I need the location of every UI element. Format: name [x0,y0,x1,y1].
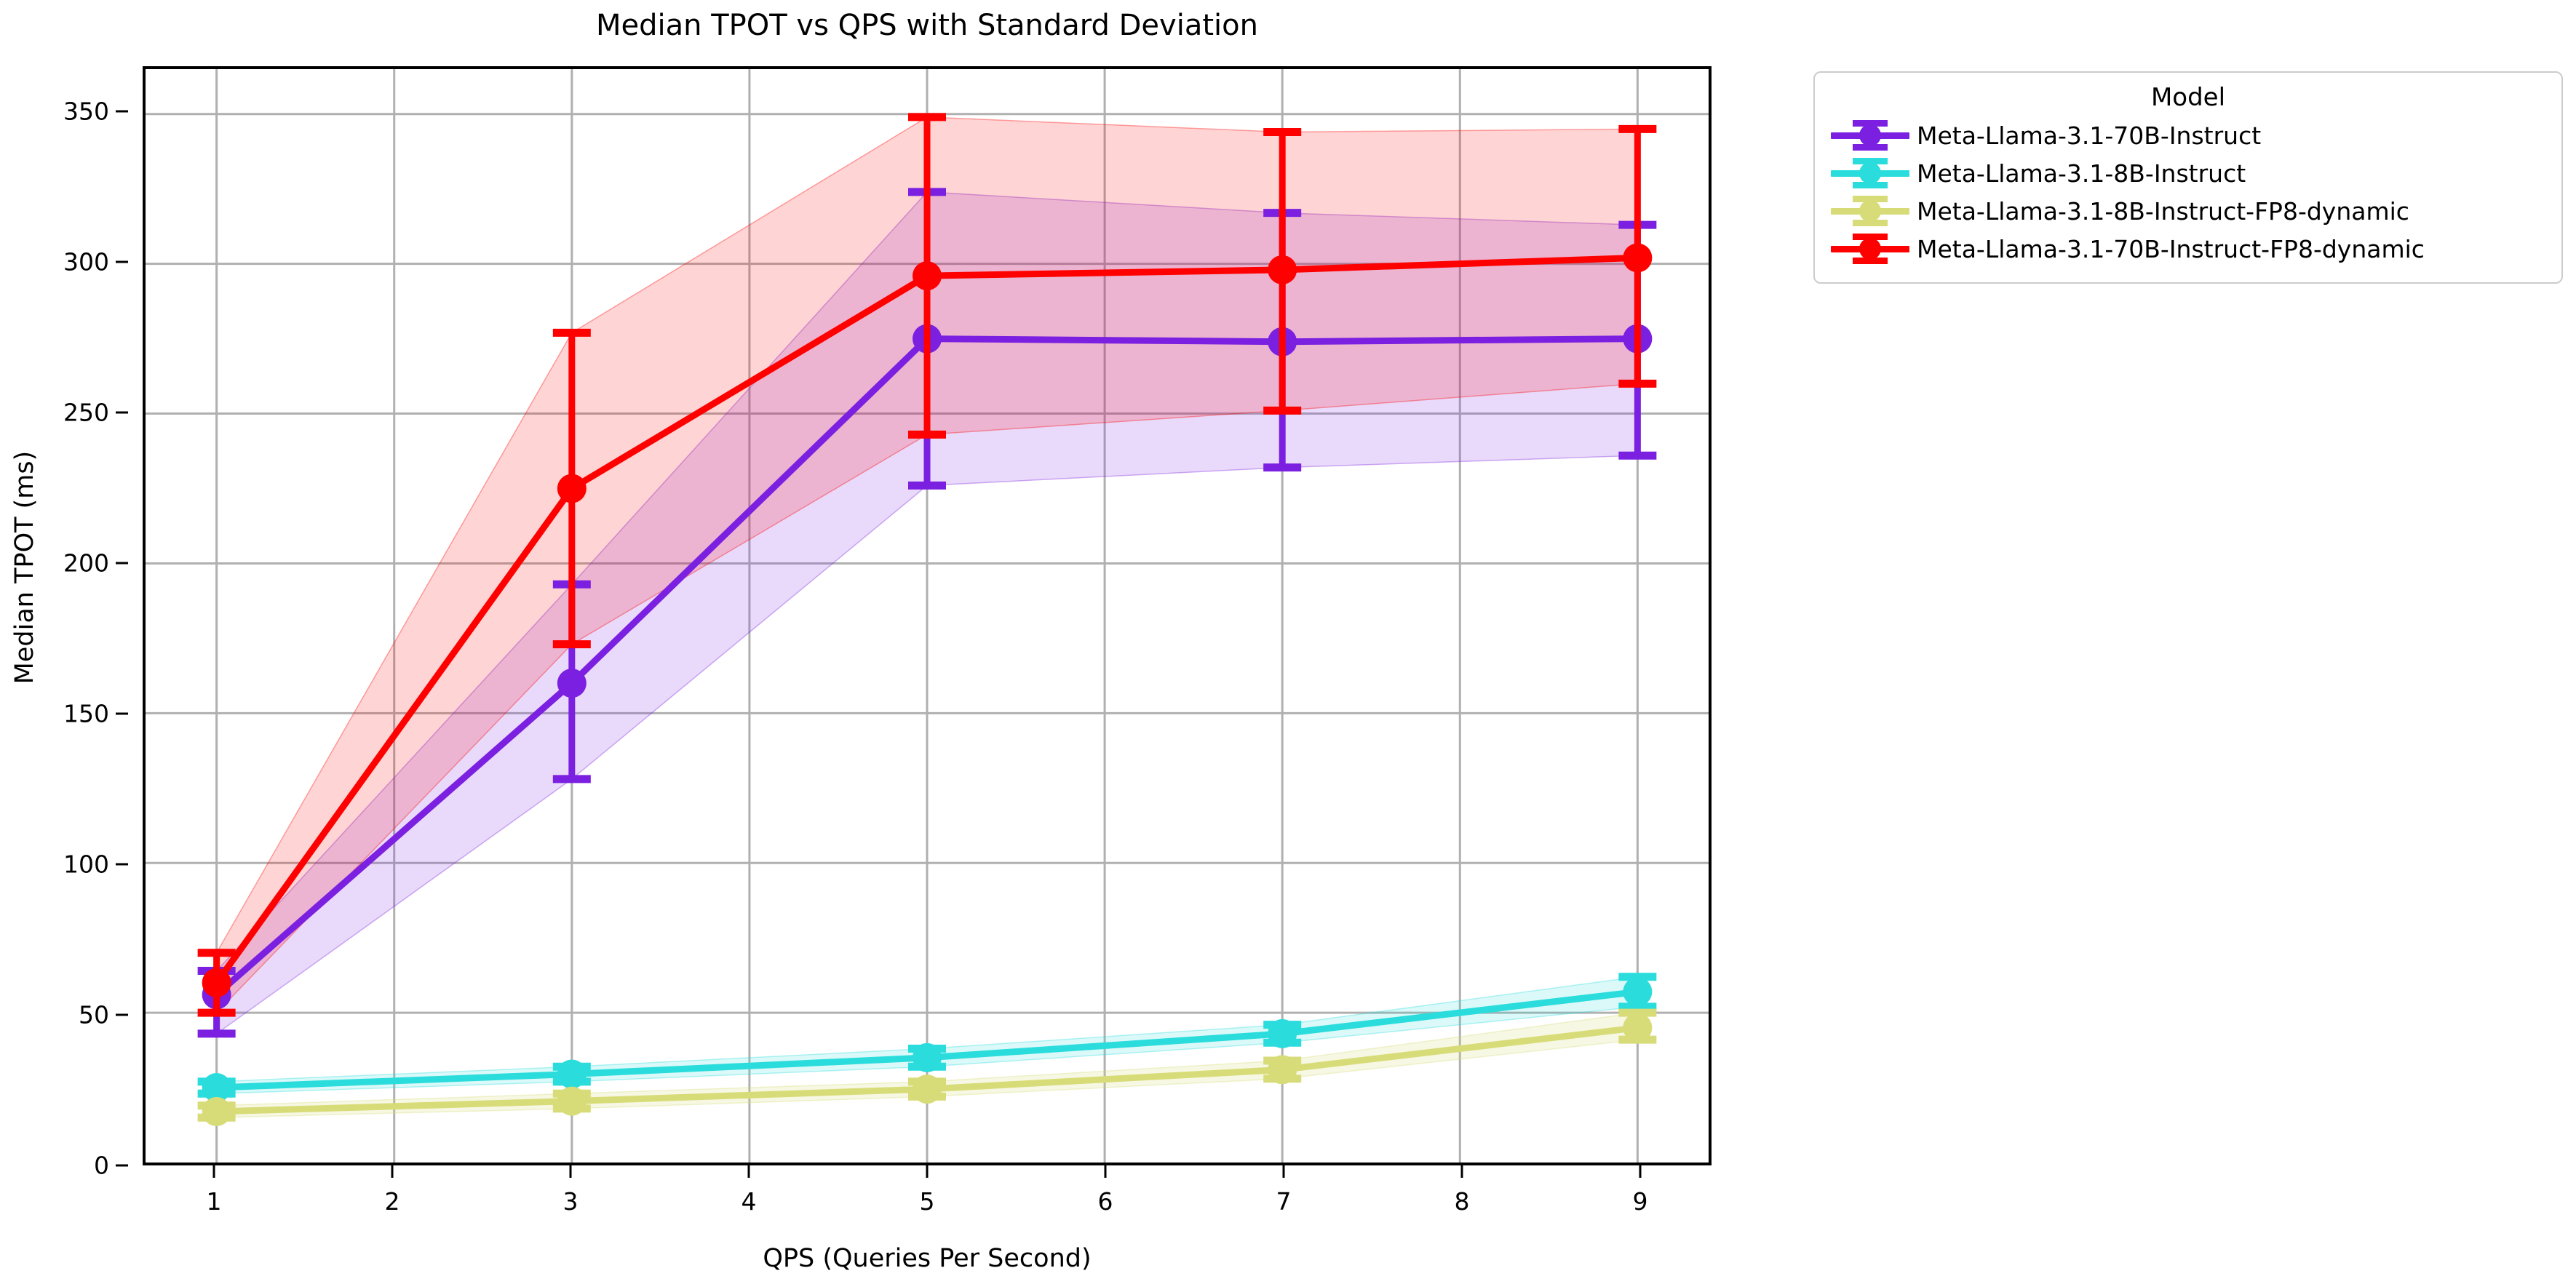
y-tick-mark [116,1165,128,1167]
x-tick-mark [570,1165,572,1178]
x-tick-mark [748,1165,750,1178]
x-tick-label: 9 [1633,1187,1648,1216]
y-tick-label: 0 [94,1152,109,1180]
legend-item-label: Meta-Llama-3.1-8B-Instruct [1917,159,2246,188]
x-tick-label: 4 [742,1187,757,1216]
y-tick-mark [116,111,128,113]
chart-canvas [146,69,1709,1163]
legend-item[interactable]: Meta-Llama-3.1-8B-Instruct-FP8-dynamic [1831,192,2545,230]
legend-marker-icon [1831,232,1909,266]
legend-item-label: Meta-Llama-3.1-70B-Instruct [1917,121,2261,150]
y-tick-label: 50 [79,1001,109,1029]
x-tick-label: 7 [1276,1187,1292,1216]
legend-item[interactable]: Meta-Llama-3.1-70B-Instruct [1831,116,2545,154]
x-tick-mark [1283,1165,1285,1178]
x-tick-label: 2 [385,1187,400,1216]
y-tick-label: 150 [63,700,109,728]
x-tick-mark [926,1165,929,1178]
y-tick-mark [116,562,128,565]
x-axis-tick-labels: 123456789 [143,1165,1712,1231]
y-axis-title: Median TPOT (ms) [10,378,39,757]
x-axis-title: QPS (Queries Per Second) [143,1244,1712,1273]
legend-item-label: Meta-Llama-3.1-70B-Instruct-FP8-dynamic [1917,235,2425,263]
legend-item[interactable]: Meta-Llama-3.1-8B-Instruct [1831,154,2545,192]
y-tick-label: 250 [63,399,109,427]
legend-entries: Meta-Llama-3.1-70B-InstructMeta-Llama-3.… [1831,116,2545,268]
y-tick-mark [116,1014,128,1016]
x-tick-mark [1461,1165,1463,1178]
x-tick-label: 5 [920,1187,935,1216]
y-tick-mark [116,412,128,414]
legend: Model Meta-Llama-3.1-70B-InstructMeta-Ll… [1813,71,2563,284]
legend-item[interactable]: Meta-Llama-3.1-70B-Instruct-FP8-dynamic [1831,230,2545,268]
y-tick-label: 200 [63,549,109,578]
y-tick-mark [116,713,128,715]
y-tick-label: 350 [63,97,109,126]
x-tick-mark [213,1165,215,1178]
x-tick-label: 6 [1098,1187,1113,1216]
plot-inner [146,69,1709,1163]
legend-marker-icon [1831,156,1909,190]
y-tick-mark [116,864,128,866]
x-tick-mark [1105,1165,1107,1178]
y-tick-label: 100 [63,850,109,879]
plot-area [143,66,1712,1165]
x-tick-label: 3 [563,1187,579,1216]
x-tick-label: 1 [207,1187,222,1216]
x-tick-mark [1639,1165,1642,1178]
chart-page: Median TPOT vs QPS with Standard Deviati… [0,0,2576,1284]
x-tick-label: 8 [1455,1187,1470,1216]
legend-title: Model [1831,83,2545,112]
y-tick-mark [116,261,128,263]
y-tick-label: 300 [63,248,109,276]
x-tick-mark [391,1165,394,1178]
legend-marker-icon [1831,194,1909,228]
legend-marker-icon [1831,119,1909,152]
page-title: Median TPOT vs QPS with Standard Deviati… [143,9,1712,42]
legend-item-label: Meta-Llama-3.1-8B-Instruct-FP8-dynamic [1917,197,2409,226]
